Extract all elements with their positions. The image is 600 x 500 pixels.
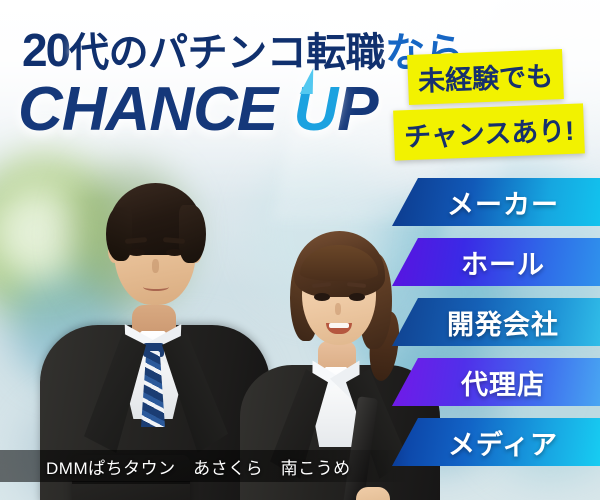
category-label: 開発会社 — [433, 303, 559, 342]
headline-main: 代のパチンコ転職 — [69, 31, 385, 75]
logo-chance: CHANCE — [18, 75, 277, 144]
chance-up-logo: CHANCE UP — [18, 74, 378, 145]
category-button-media[interactable]: メディア — [392, 418, 600, 466]
logo-p: P — [337, 75, 377, 144]
inexperienced-welcome-badge: 未経験でも チャンスあり! — [394, 52, 592, 157]
caption-text: DMMぱちタウン あさくら 南こうめ — [0, 454, 351, 479]
category-label: ホール — [447, 243, 545, 282]
category-button-hall[interactable]: ホール — [392, 238, 600, 286]
category-label: メーカー — [433, 183, 559, 222]
badge-line-1: 未経験でも — [407, 49, 564, 105]
eye-right — [349, 293, 365, 301]
headline-number: 20 — [22, 24, 69, 76]
mouth — [143, 283, 169, 291]
eye-left — [314, 293, 330, 301]
hair-side-right — [179, 205, 206, 263]
nose — [335, 303, 341, 315]
category-button-agency[interactable]: 代理店 — [392, 358, 600, 406]
teeth — [329, 323, 349, 328]
category-label: メディア — [434, 423, 558, 462]
eye-left — [128, 249, 145, 256]
nose — [152, 259, 159, 273]
eye-right — [166, 249, 183, 256]
category-list: メーカー ホール 開発会社 代理店 メディア — [392, 178, 600, 478]
caption-bar: DMMぱちタウン あさくら 南こうめ — [0, 450, 410, 482]
pachinko-job-banner-ad[interactable]: 20代のパチンコ転職なら CHANCE UP 未経験でも チャンスあり! メーカ… — [0, 0, 600, 500]
logo-u-arrow-icon: U — [293, 74, 337, 145]
badge-line-2: チャンスあり! — [393, 103, 585, 160]
category-button-development-company[interactable]: 開発会社 — [392, 298, 600, 346]
category-button-maker[interactable]: メーカー — [392, 178, 600, 226]
hand — [356, 487, 390, 500]
category-label: 代理店 — [447, 363, 545, 402]
